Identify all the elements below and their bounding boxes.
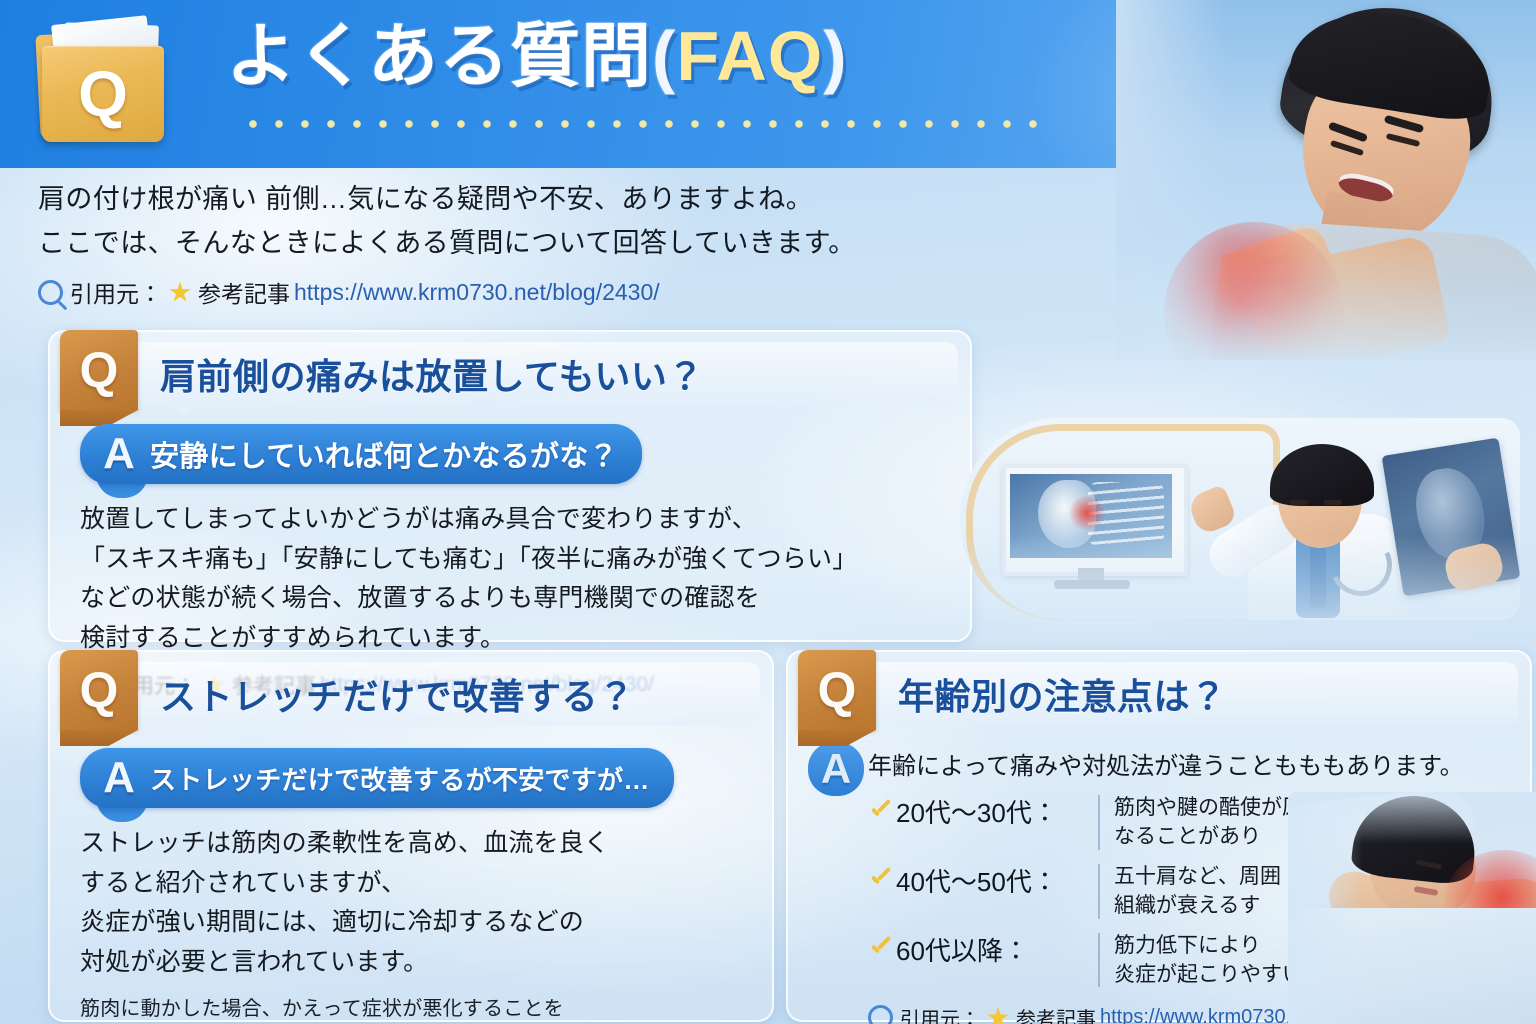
question-bar-3: Q 年齢別の注意点は？ bbox=[800, 662, 1518, 726]
question-text-1: 肩前側の痛みは放置してもいい？ bbox=[160, 348, 704, 400]
answer-note-2: 筋肉に動かした場合、かえって症状が悪化することを 防ぐためにも、筋肉負荷状態を確… bbox=[80, 994, 750, 1024]
shoulder-pain-man-photo bbox=[1116, 0, 1536, 360]
q-badge-letter-3: Q bbox=[818, 665, 857, 715]
monitor-base bbox=[1054, 580, 1130, 589]
q-badge-1: Q bbox=[60, 330, 138, 410]
faq-card-2: Q ストレッチだけで改善する？ A ストレッチだけで改善するが不安ですが… スト… bbox=[48, 650, 774, 1022]
a-badge-1: A bbox=[88, 430, 150, 478]
list-divider bbox=[1098, 795, 1100, 850]
answer-line: などの状態が続く場合、放置するよりも専門機関での確認を bbox=[80, 579, 948, 619]
intro-citation[interactable]: 引用元： 参考記事 https://www.krm0730.net/blog/2… bbox=[38, 275, 918, 309]
sleeping-man-illustration bbox=[1288, 792, 1536, 1024]
answer-line: 「スキスキ痛も」「安静にしても痛む」「夜半に痛みが強くてつらい」 bbox=[80, 540, 948, 580]
answer-line: ストレッチは筋肉の柔軟性を高め、血流を良く bbox=[80, 824, 750, 864]
citation-label: 引用元： bbox=[70, 275, 162, 309]
faq-infographic: Q よくある質問(FAQ) 肩の付け根が痛い 前側…気になる疑問や不安、あります… bbox=[0, 0, 1536, 1024]
search-icon bbox=[38, 280, 63, 305]
q-badge-2: Q bbox=[60, 650, 138, 730]
star-icon bbox=[169, 281, 191, 303]
question-bar-2: Q ストレッチだけで改善する？ bbox=[62, 662, 760, 726]
answer-headline-pill-2: A ストレッチだけで改善するが不安ですが… bbox=[80, 748, 674, 808]
age-detail-line: 五十肩など、周囲 bbox=[1114, 862, 1281, 891]
check-icon bbox=[868, 868, 892, 892]
folder-q-letter: Q bbox=[42, 46, 164, 142]
header-dotted-rule bbox=[240, 118, 1040, 130]
photo-fade-bottom bbox=[1116, 240, 1536, 360]
list-divider bbox=[1098, 864, 1100, 919]
folder-icon: Q bbox=[30, 14, 170, 144]
answer-line: 放置してしまってよいかどうがは痛み具合で変わりますが、 bbox=[80, 500, 948, 540]
page-title: よくある質問(FAQ) bbox=[226, 20, 848, 94]
page-title-jp: よくある質問 bbox=[226, 17, 652, 95]
answer-body-2: A ストレッチだけで改善するが不安ですが… ストレッチは筋肉の柔軟性を高め、血流… bbox=[50, 726, 772, 1024]
question-bar-1: Q 肩前側の痛みは放置してもいい？ bbox=[62, 342, 958, 406]
q-badge-3: Q bbox=[798, 650, 876, 730]
check-icon bbox=[868, 937, 892, 961]
list-divider bbox=[1098, 933, 1100, 988]
citation-url[interactable]: https://www.krm0730.net/blog/2430/ bbox=[294, 279, 660, 306]
doctor-eye-left bbox=[1290, 500, 1308, 505]
question-text-3: 年齢別の注意点は？ bbox=[898, 668, 1227, 720]
age-detail-line: 組織が衰えるす bbox=[1114, 891, 1281, 920]
paren-open: ( bbox=[652, 17, 676, 95]
age-detail-line: 炎症が起こりやすい bbox=[1114, 960, 1303, 989]
answer-headline-1: 安静にしていれば何とかなるがな？ bbox=[150, 433, 618, 475]
answer-headline-pill-1: A 安静にしていれば何とかなるがな？ bbox=[80, 424, 642, 484]
star-icon bbox=[987, 1007, 1009, 1024]
intro-line-1: 肩の付け根が痛い 前側…気になる疑問や不安、ありますよね。 bbox=[38, 178, 918, 222]
scan-pain-highlight bbox=[1068, 496, 1106, 530]
illustration-fade bbox=[1288, 792, 1536, 1024]
citation-label: 引用元： bbox=[900, 1003, 980, 1024]
q-badge-letter-2: Q bbox=[80, 665, 119, 715]
citation-source: 参考記事 bbox=[198, 275, 290, 309]
answer-headline-2: ストレッチだけで改善するが不安ですが… bbox=[150, 760, 650, 797]
paren-close: ) bbox=[823, 17, 847, 95]
faq-card-1: Q 肩前側の痛みは放置してもいい？ A 安静にしていれば何とかなるがな？ 放置し… bbox=[48, 330, 972, 642]
answer-headline-3: 年齢によって痛みや対処法が違うこともももあります。 bbox=[868, 746, 1512, 781]
age-range-text: 20代〜30代： bbox=[896, 793, 1058, 830]
age-range-label: 40代〜50代： bbox=[868, 862, 1098, 899]
age-detail: 筋力低下により 炎症が起こりやすい bbox=[1114, 931, 1303, 990]
intro-line-2: ここでは、そんなときによくある質問について回答していきます。 bbox=[38, 222, 918, 266]
age-range-label: 20代〜30代： bbox=[868, 793, 1098, 830]
answer-line: 炎症が強い期間には、適切に冷却するなどの bbox=[80, 903, 750, 943]
intro-block: 肩の付け根が痛い 前側…気になる疑問や不安、ありますよね。 ここでは、そんなとき… bbox=[38, 178, 918, 309]
citation-source: 参考記事 bbox=[1016, 1003, 1096, 1024]
a-badge-3: A bbox=[808, 742, 864, 796]
a-badge-2: A bbox=[88, 754, 150, 802]
note-line: 筋肉に動かした場合、かえって症状が悪化することを bbox=[80, 994, 750, 1024]
answer-line: すると紹介されていますが、 bbox=[80, 864, 750, 904]
doctor-eye-right bbox=[1324, 500, 1342, 505]
age-range-text: 40代〜50代： bbox=[896, 862, 1058, 899]
answer-paragraph-1: 放置してしまってよいかどうがは痛み具合で変わりますが、 「スキスキ痛も」「安静に… bbox=[80, 500, 948, 658]
age-range-label: 60代以降： bbox=[868, 931, 1098, 968]
doctor-tie bbox=[1310, 538, 1326, 608]
doctor-xray-illustration bbox=[960, 418, 1520, 620]
age-detail: 五十肩など、周囲 組織が衰えるす bbox=[1114, 862, 1281, 921]
page-title-faq: FAQ bbox=[676, 17, 823, 95]
answer-line: 対処が必要と言われています。 bbox=[80, 943, 750, 983]
search-icon bbox=[868, 1005, 893, 1024]
question-text-2: ストレッチだけで改善する？ bbox=[160, 668, 635, 720]
age-detail-line: 筋力低下により bbox=[1114, 931, 1303, 960]
check-icon bbox=[868, 800, 892, 824]
q-badge-letter-1: Q bbox=[80, 345, 119, 395]
answer-paragraph-2: ストレッチは筋肉の柔軟性を高め、血流を良く すると紹介されていますが、 炎症が強… bbox=[80, 824, 750, 982]
age-range-text: 60代以降： bbox=[896, 931, 1029, 968]
